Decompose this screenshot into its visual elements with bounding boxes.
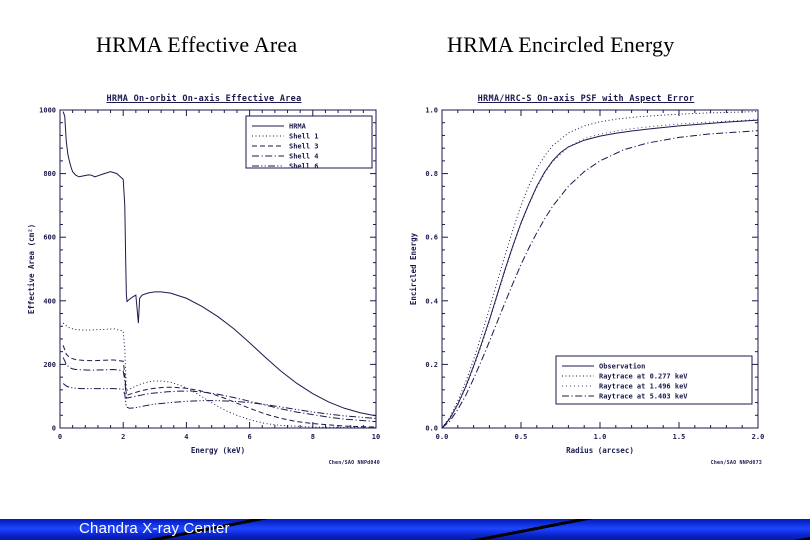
- svg-text:0.4: 0.4: [425, 297, 438, 305]
- svg-text:Shell 4: Shell 4: [289, 153, 319, 161]
- svg-text:400: 400: [43, 297, 56, 305]
- svg-text:800: 800: [43, 170, 56, 178]
- footer-banner: Chandra X-ray Center: [0, 519, 810, 540]
- svg-text:1.0: 1.0: [425, 107, 438, 115]
- svg-text:Energy (keV): Energy (keV): [191, 446, 245, 455]
- figure-encircled-energy: HRMA/HRC-S On-axis PSF with Aspect Error…: [400, 92, 772, 470]
- figure-right-credit-stamp: Chen/SAO NNPd073: [711, 460, 762, 466]
- svg-text:Observation: Observation: [599, 363, 645, 371]
- svg-text:6: 6: [247, 433, 251, 441]
- svg-text:4: 4: [184, 433, 188, 441]
- svg-text:0.0: 0.0: [425, 425, 438, 433]
- page-title-encircled-energy: HRMA Encircled Energy: [447, 32, 674, 58]
- svg-text:0.2: 0.2: [425, 361, 438, 369]
- svg-text:Raytrace at 0.277 keV: Raytrace at 0.277 keV: [599, 373, 688, 381]
- svg-text:1.0: 1.0: [594, 433, 607, 441]
- svg-text:Raytrace at 5.403 keV: Raytrace at 5.403 keV: [599, 393, 688, 401]
- svg-text:0.5: 0.5: [515, 433, 528, 441]
- page-title-effective-area: HRMA Effective Area: [96, 32, 297, 58]
- svg-text:Shell 1: Shell 1: [289, 133, 319, 141]
- svg-text:HRMA: HRMA: [289, 123, 307, 131]
- footer-organization-label: Chandra X-ray Center: [79, 520, 230, 537]
- svg-text:2: 2: [121, 433, 125, 441]
- svg-text:Raytrace at 1.496 keV: Raytrace at 1.496 keV: [599, 383, 688, 391]
- effective-area-plot: 024681002004006008001000Energy (keV)Effe…: [18, 92, 390, 470]
- svg-text:0: 0: [58, 433, 62, 441]
- figure-left-credit-stamp: Chen/SAO NNPd040: [329, 460, 380, 466]
- svg-text:600: 600: [43, 234, 56, 242]
- encircled-energy-plot: 0.00.51.01.52.00.00.20.40.60.81.0Radius …: [400, 92, 772, 470]
- svg-text:Effective Area (cm²): Effective Area (cm²): [27, 224, 36, 314]
- svg-text:Shell 6: Shell 6: [289, 163, 319, 171]
- svg-text:0.8: 0.8: [425, 170, 438, 178]
- svg-text:Shell 3: Shell 3: [289, 143, 319, 151]
- svg-text:200: 200: [43, 361, 56, 369]
- svg-text:1000: 1000: [39, 107, 56, 115]
- svg-text:8: 8: [311, 433, 315, 441]
- svg-text:0.0: 0.0: [436, 433, 449, 441]
- svg-text:2.0: 2.0: [752, 433, 765, 441]
- svg-text:0: 0: [52, 425, 56, 433]
- figure-effective-area: HRMA On-orbit On-axis Effective Area 024…: [18, 92, 390, 470]
- svg-text:Radius (arcsec): Radius (arcsec): [566, 446, 634, 455]
- svg-text:0.6: 0.6: [425, 234, 438, 242]
- svg-text:1.5: 1.5: [673, 433, 686, 441]
- svg-text:Encircled Energy: Encircled Energy: [409, 232, 418, 305]
- svg-text:10: 10: [372, 433, 380, 441]
